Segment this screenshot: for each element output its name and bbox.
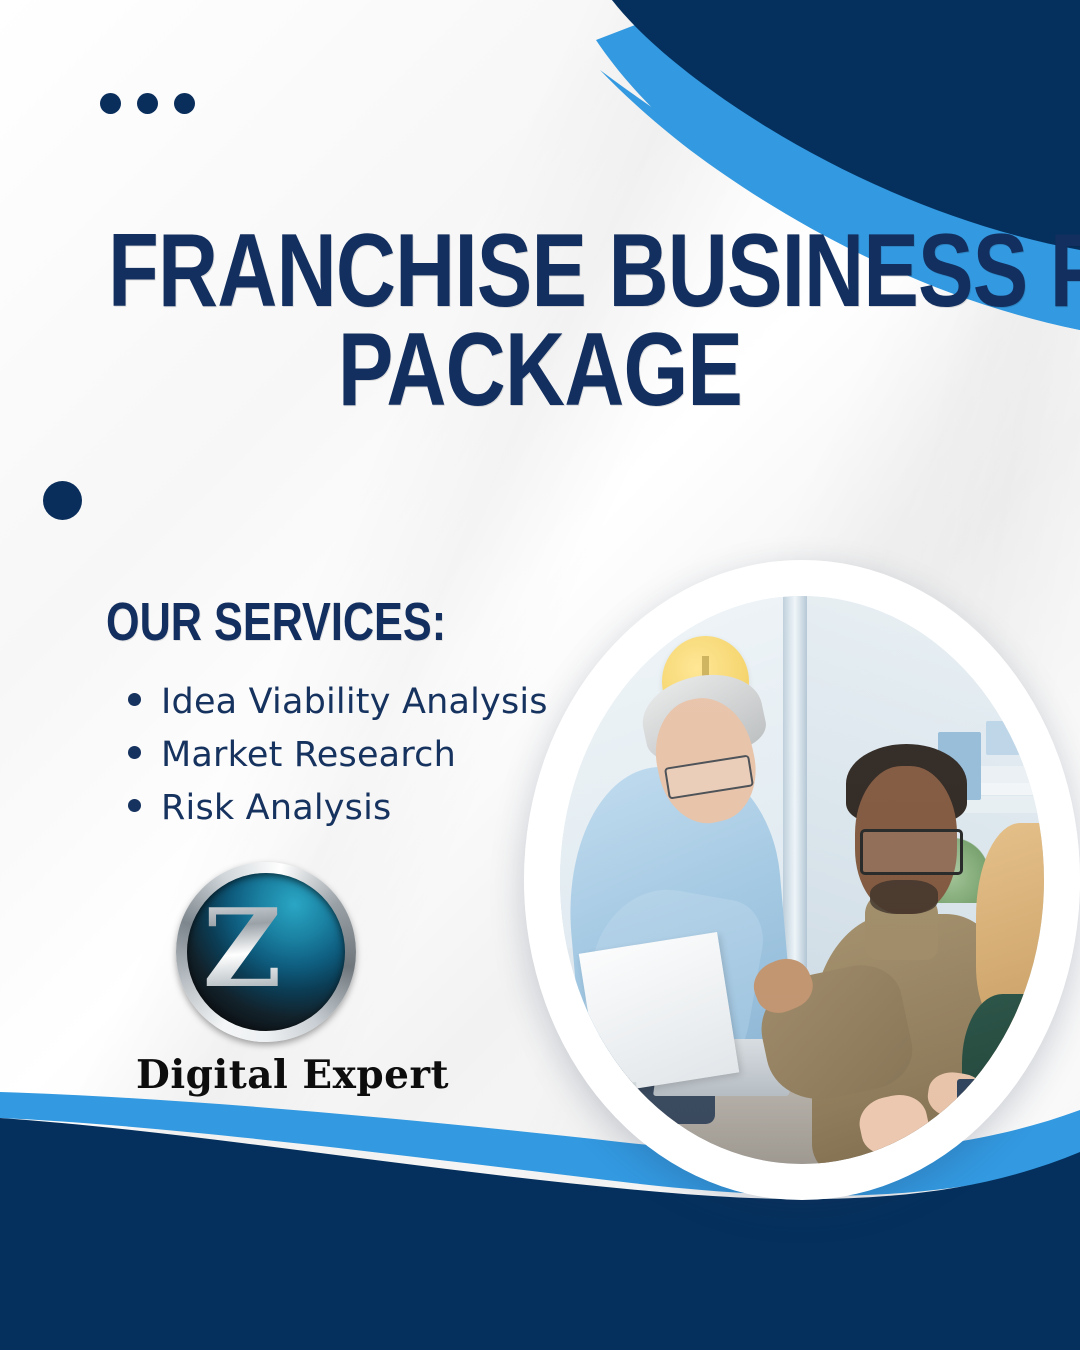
decorative-large-dot-icon <box>43 481 82 520</box>
services-heading: OUR SERVICES: <box>106 595 446 649</box>
logo-monogram: ZR <box>176 862 356 1042</box>
service-label: Market Research <box>161 729 456 782</box>
headline-line-2: PACKAGE <box>108 321 972 420</box>
logo-badge-icon: ZR <box>176 862 356 1042</box>
bullet-icon <box>128 799 141 812</box>
bullet-icon <box>128 746 141 759</box>
list-item: Risk Analysis <box>128 782 548 835</box>
decorative-dots-row <box>100 93 195 114</box>
service-label: Idea Viability Analysis <box>161 676 548 729</box>
team-photo-illustration <box>560 596 1044 1164</box>
logo-letter-z: Z <box>203 895 268 1003</box>
decorative-dot-icon <box>100 93 121 114</box>
decorative-dot-icon <box>137 93 158 114</box>
team-photo-clip <box>560 596 1044 1164</box>
poster-canvas: FRANCHISE BUSINESS PLAN PACKAGE OUR SERV… <box>0 0 1080 1350</box>
bullet-icon <box>128 693 141 706</box>
page-title: FRANCHISE BUSINESS PLAN PACKAGE <box>108 222 972 420</box>
logo-letter-r: R <box>264 913 330 1009</box>
services-list: Idea Viability Analysis Market Research … <box>128 676 548 836</box>
brand-name: Digital Expert <box>136 1052 356 1098</box>
team-photo-circle <box>524 560 1080 1200</box>
brand-logo: ZR Digital Expert <box>176 862 356 1098</box>
list-item: Idea Viability Analysis <box>128 676 548 729</box>
headline-line-1: FRANCHISE BUSINESS PLAN <box>108 222 972 321</box>
list-item: Market Research <box>128 729 548 782</box>
service-label: Risk Analysis <box>161 782 391 835</box>
decorative-dot-icon <box>174 93 195 114</box>
